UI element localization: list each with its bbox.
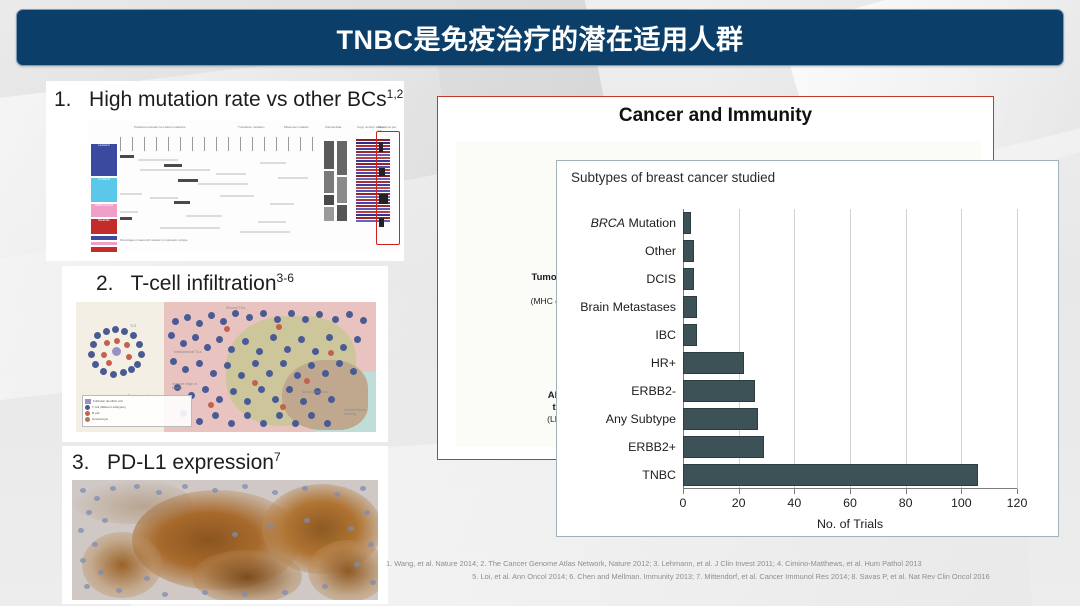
heatmap-bottom-caption: Percentages of cases with mutation by ex… — [120, 239, 187, 242]
granulocyte-icon — [85, 417, 90, 422]
chart-bar-row[interactable]: Brain Metastases — [683, 296, 1017, 318]
chart-x-tick-label: 0 — [680, 496, 687, 510]
legend-label: Follicular dendritic cell — [93, 399, 123, 403]
chart-category-label: ERBB2- — [631, 384, 676, 398]
left-item-1-number: 1. — [54, 88, 72, 112]
chart-bar[interactable] — [683, 436, 764, 458]
cancer-immunity-title: Cancer and Immunity — [438, 105, 993, 127]
chart-bar-row[interactable]: Any Subtype — [683, 408, 1017, 430]
tcell-annotation: TLS — [130, 324, 136, 328]
chart-category-label: Other — [645, 244, 676, 258]
left-item-2-number: 2. — [96, 272, 114, 296]
chart-category-label: Any Subtype — [606, 412, 676, 426]
left-item-1-label: High mutation rate vs other BCs — [89, 88, 387, 111]
chart-bar-row[interactable]: Other — [683, 240, 1017, 262]
left-item-2-sup: 3-6 — [277, 271, 294, 285]
chart-x-tick — [739, 489, 740, 494]
chart-x-tick — [961, 489, 962, 494]
chart-category-label: TNBC — [642, 468, 676, 482]
tcell-annotation: Invasive edge of tumour — [172, 382, 202, 390]
legend-label: Granulocyte — [92, 417, 108, 421]
chart-bar-row[interactable]: IBC — [683, 324, 1017, 346]
tcell-annotation: Central fibrous scarring — [344, 408, 372, 416]
b-cell-icon — [85, 411, 90, 416]
left-item-2-label: T-cell infiltration — [131, 272, 277, 295]
heatmap-top-label: Predicted somatic non-silent mutations — [134, 125, 186, 129]
chart-bar[interactable] — [683, 296, 697, 318]
chart-x-tick — [1017, 489, 1018, 494]
heatmap-top-label: Truncation mutation — [238, 125, 264, 129]
slide-title-bar: TNBC是免疫治疗的潜在适用人群 — [16, 9, 1064, 66]
chart-category-label: Brain Metastases — [580, 300, 676, 314]
chart-category-label: BRCA Mutation — [591, 216, 676, 230]
left-item-2-card: 2. T-cell infiltration3-6 — [62, 266, 388, 442]
tcell-annotation: Stromal TILs — [226, 306, 245, 310]
chart-x-tick-label: 20 — [732, 496, 746, 510]
heatmap-subtype-row: Luminal B — [90, 177, 118, 203]
mutation-heatmap-figure: Predicted somatic non-silent mutations T… — [88, 121, 398, 251]
chart-title: Subtypes of breast cancer studied — [571, 170, 775, 185]
chart-bar-row[interactable]: BRCA Mutation — [683, 212, 1017, 234]
chart-bar-row[interactable]: ERBB2- — [683, 380, 1017, 402]
legend-label: T cell (different subtypes) — [92, 405, 126, 409]
tcell-infiltration-figure: Stromal TILs TLS Intratumoural TILs Inva… — [76, 302, 376, 432]
left-item-3-label: PD-L1 expression — [107, 451, 274, 474]
subtypes-bar-chart-card: Subtypes of breast cancer studied BRCA M… — [556, 160, 1059, 537]
chart-x-axis-title: No. of Trials — [683, 517, 1017, 531]
chart-bar[interactable] — [683, 464, 978, 486]
left-item-1-sup: 1,2 — [387, 87, 404, 101]
heatmap-top-label: Clinical data — [325, 125, 341, 129]
chart-x-tick-label: 40 — [787, 496, 801, 510]
chart-bar-row[interactable]: TNBC — [683, 464, 1017, 486]
t-cell-icon — [85, 405, 90, 410]
chart-gridline — [1017, 209, 1018, 489]
legend-label: B cell — [92, 411, 99, 415]
left-item-3-heading: 3. PD-L1 expression7 — [72, 450, 281, 475]
chart-plot-area: BRCA MutationOtherDCISBrain MetastasesIB… — [683, 209, 1017, 489]
heatmap-subtype-row — [90, 246, 118, 253]
chart-bar-row[interactable]: HR+ — [683, 352, 1017, 374]
left-item-3-sup: 7 — [274, 450, 281, 464]
chart-x-tick-label: 100 — [951, 496, 972, 510]
chart-x-tick — [906, 489, 907, 494]
chart-bar[interactable] — [683, 212, 691, 234]
footnote-block: 1. Wang, et al. Nature 2014; 2. The Canc… — [386, 558, 1076, 584]
chart-x-tick — [794, 489, 795, 494]
chart-bar-row[interactable]: ERBB2+ — [683, 436, 1017, 458]
chart-x-tick-label: 60 — [843, 496, 857, 510]
slide-title: TNBC是免疫治疗的潜在适用人群 — [337, 18, 744, 57]
heatmap-grid — [120, 137, 320, 241]
chart-bar[interactable] — [683, 352, 744, 374]
tcell-annotation: Intratumoural TILs — [174, 350, 201, 354]
tcell-annotation: Necrosis/hypoxia — [302, 390, 328, 394]
legend-item: Granulocyte — [85, 416, 189, 422]
left-item-2-heading: 2. T-cell infiltration3-6 — [96, 271, 294, 296]
heatmap-subtype-row: Basal-like — [90, 218, 118, 235]
heatmap-top-label: Missense mutation — [284, 125, 309, 129]
left-item-1-heading: 1. High mutation rate vs other BCs1,2 — [54, 87, 403, 112]
footnote-line-2: 5. Loi, et al. Ann Oncol 2014; 6. Chen a… — [386, 571, 1076, 584]
chart-x-tick-label: 80 — [899, 496, 913, 510]
chart-category-label: HR+ — [651, 356, 676, 370]
chart-category-label: ERBB2+ — [628, 440, 676, 454]
heatmap-clinical-block — [324, 137, 352, 229]
chart-x-tick-label: 120 — [1007, 496, 1028, 510]
chart-bar-row[interactable]: DCIS — [683, 268, 1017, 290]
chart-bar[interactable] — [683, 240, 694, 262]
chart-bar[interactable] — [683, 324, 697, 346]
footnote-line-1: 1. Wang, et al. Nature 2014; 2. The Canc… — [386, 558, 1076, 571]
left-item-3-card: 3. PD-L1 expression7 — [62, 446, 388, 604]
heatmap-subtype-key: Luminal A Luminal B HER2 enriched Basal-… — [90, 143, 118, 253]
chart-bar[interactable] — [683, 408, 758, 430]
chart-x-tick — [683, 489, 684, 494]
follicular-dendritic-cell-icon — [85, 399, 91, 404]
chart-x-tick — [850, 489, 851, 494]
chart-category-label: DCIS — [646, 272, 676, 286]
chart-bar[interactable] — [683, 380, 755, 402]
pdl1-ihc-figure — [72, 480, 378, 600]
chart-bar[interactable] — [683, 268, 694, 290]
heatmap-highlight-box — [376, 131, 400, 245]
left-item-3-number: 3. — [72, 451, 90, 475]
heatmap-subtype-row: HER2 enriched — [90, 203, 118, 218]
left-item-1-card: 1. High mutation rate vs other BCs1,2 Pr… — [46, 81, 404, 261]
heatmap-subtype-row: Luminal A — [90, 143, 118, 177]
slide-canvas: TNBC是免疫治疗的潜在适用人群 1. High mutation rate v… — [0, 0, 1080, 606]
chart-category-label: IBC — [655, 328, 676, 342]
tcell-legend: Follicular dendritic cell T cell (differ… — [82, 395, 192, 427]
